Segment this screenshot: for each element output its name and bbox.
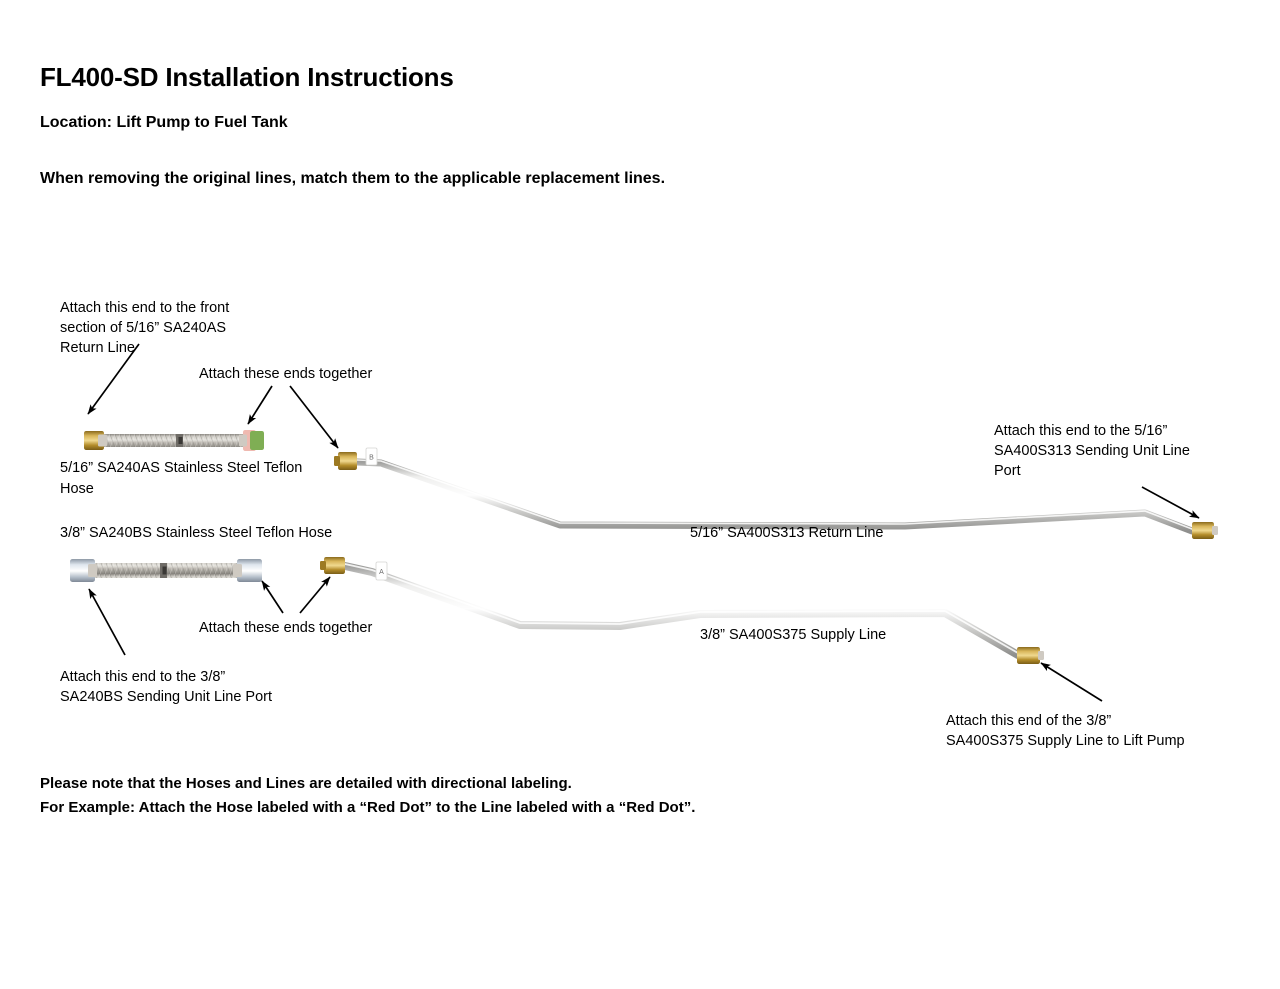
svg-text:A: A (379, 569, 384, 576)
callout-upper-hose-front: Attach this end to the front section of … (60, 298, 229, 358)
hose-sa240as (84, 430, 264, 451)
matching-instruction: When removing the original lines, match … (40, 170, 665, 188)
arrow-lower-join-left (262, 581, 283, 613)
line-sa400s375: A (320, 557, 1044, 664)
part-label-line-sa400s375: 3/8” SA400S375 Supply Line (700, 625, 886, 646)
arrow-lower-join-right (300, 577, 330, 613)
callout-supply-line-pump: Attach this end of the 3/8” SA400S375 Su… (946, 711, 1185, 751)
arrow-supply-line-pump (1041, 663, 1102, 701)
callout-lower-hose-port: Attach this end to the 3/8” SA240BS Send… (60, 667, 272, 707)
arrow-lower-hose-port (89, 589, 125, 655)
arrow-upper-join-right (290, 386, 338, 448)
part-label-line-sa400s313: 5/16” SA400S313 Return Line (690, 523, 883, 544)
arrow-return-line-port (1142, 487, 1199, 518)
directional-labeling-note: Please note that the Hoses and Lines are… (40, 772, 695, 820)
document-page: FL400-SD Installation Instructions Locat… (0, 0, 1280, 989)
part-label-hose-sa240as: 5/16” SA240AS Stainless Steel Teflon Hos… (60, 458, 302, 500)
svg-text:B: B (369, 455, 374, 462)
callout-upper-join: Attach these ends together (199, 364, 372, 384)
callout-return-line-port: Attach this end to the 5/16” SA400S313 S… (994, 421, 1190, 481)
location-subtitle: Location: Lift Pump to Fuel Tank (40, 114, 288, 132)
part-label-hose-sa240bs: 3/8” SA240BS Stainless Steel Teflon Hose (60, 523, 332, 544)
callout-lower-join: Attach these ends together (199, 618, 372, 638)
hose-sa240bs (70, 559, 262, 582)
page-title: FL400-SD Installation Instructions (40, 62, 454, 93)
arrow-upper-join-left (248, 386, 272, 424)
